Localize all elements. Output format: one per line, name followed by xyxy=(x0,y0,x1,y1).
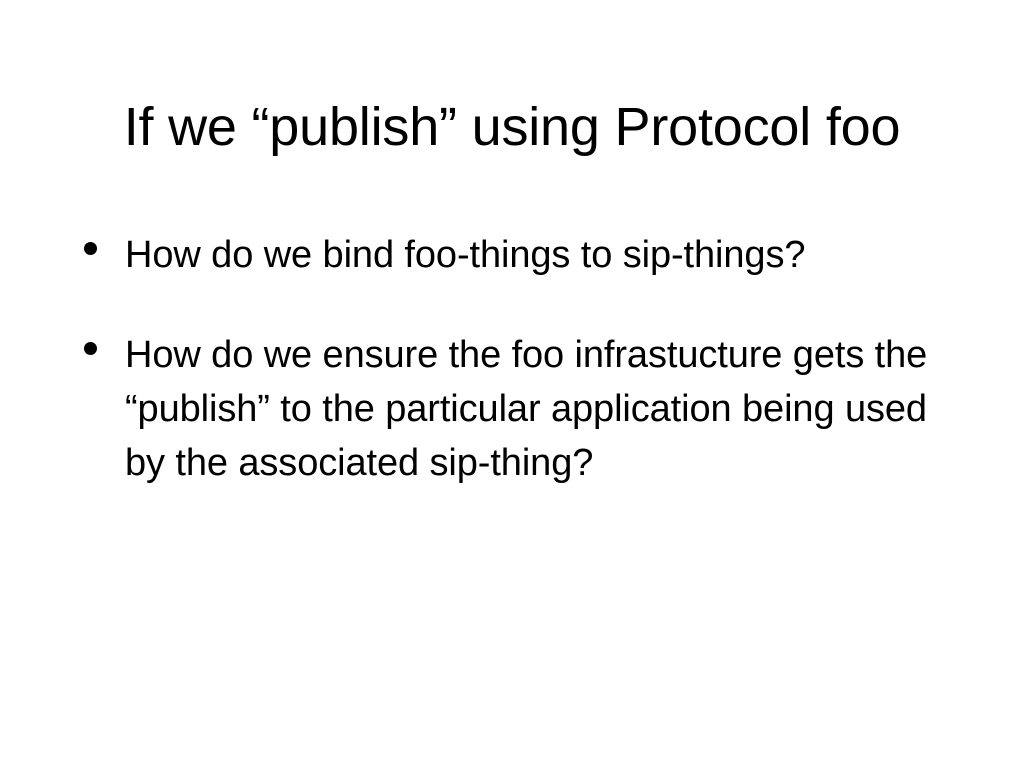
bullet-list-item: How do we ensure the foo infrastucture g… xyxy=(78,328,958,490)
slide-body-bullet-list: How do we bind foo-things to sip-things?… xyxy=(78,228,958,490)
bullet-dot-icon xyxy=(84,228,104,282)
bullet-list-item: How do we bind foo-things to sip-things? xyxy=(78,228,958,282)
bullet-dot-icon xyxy=(84,328,104,382)
bullet-list-item-text: How do we bind foo-things to sip-things? xyxy=(125,228,958,282)
bullet-list-item-text: How do we ensure the foo infrastucture g… xyxy=(125,328,958,490)
presentation-slide: If we “publish” using Protocol foo How d… xyxy=(0,0,1024,768)
slide-title: If we “publish” using Protocol foo xyxy=(62,88,962,166)
